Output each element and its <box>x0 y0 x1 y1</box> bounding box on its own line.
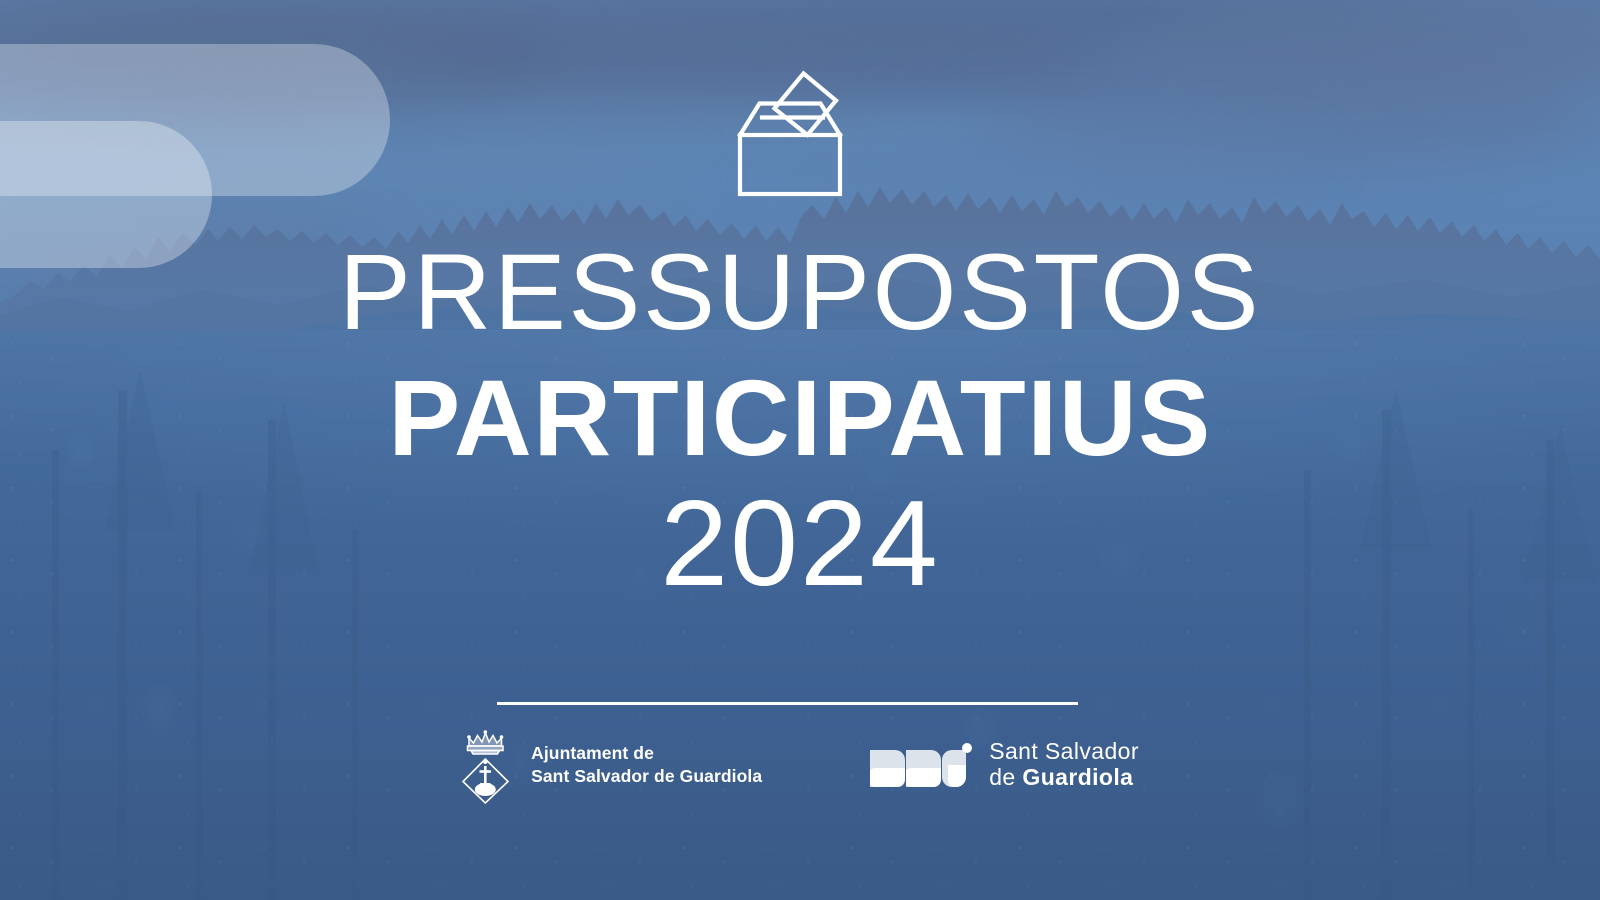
page-title-line-2: PARTICIPATIUS <box>0 364 1600 472</box>
ballot-box-icon <box>730 68 850 200</box>
logo-ssg-line-2-bold: Guardiola <box>1022 764 1133 790</box>
page-title-year: 2024 <box>0 482 1600 604</box>
poster-content: PRESSUPOSTOS PARTICIPATIUS 2024 <box>0 0 1600 900</box>
logo-ssg: Sant Salvador de Guardiola <box>870 739 1139 791</box>
logo-ajuntament-text: Ajuntament de Sant Salvador de Guardiola <box>531 742 762 788</box>
logo-ssg-line-1: Sant Salvador <box>989 739 1139 765</box>
divider-rule <box>497 702 1078 705</box>
page-title-line-1: PRESSUPOSTOS <box>0 238 1600 346</box>
poster-titles: PRESSUPOSTOS PARTICIPATIUS 2024 <box>0 238 1600 604</box>
coat-of-arms-icon <box>461 726 517 804</box>
logo-ssg-text: Sant Salvador de Guardiola <box>989 739 1139 791</box>
logo-ajuntament-line-1: Ajuntament de <box>531 742 762 765</box>
ssg-monogram-icon <box>870 743 974 787</box>
logo-ssg-line-2-light: de <box>989 764 1022 790</box>
poster: PRESSUPOSTOS PARTICIPATIUS 2024 <box>0 0 1600 900</box>
logo-ajuntament: Ajuntament de Sant Salvador de Guardiola <box>461 726 762 804</box>
logo-ajuntament-line-2: Sant Salvador de Guardiola <box>531 765 762 788</box>
logo-row: Ajuntament de Sant Salvador de Guardiola <box>0 726 1600 804</box>
logo-ssg-line-2: de Guardiola <box>989 765 1139 791</box>
